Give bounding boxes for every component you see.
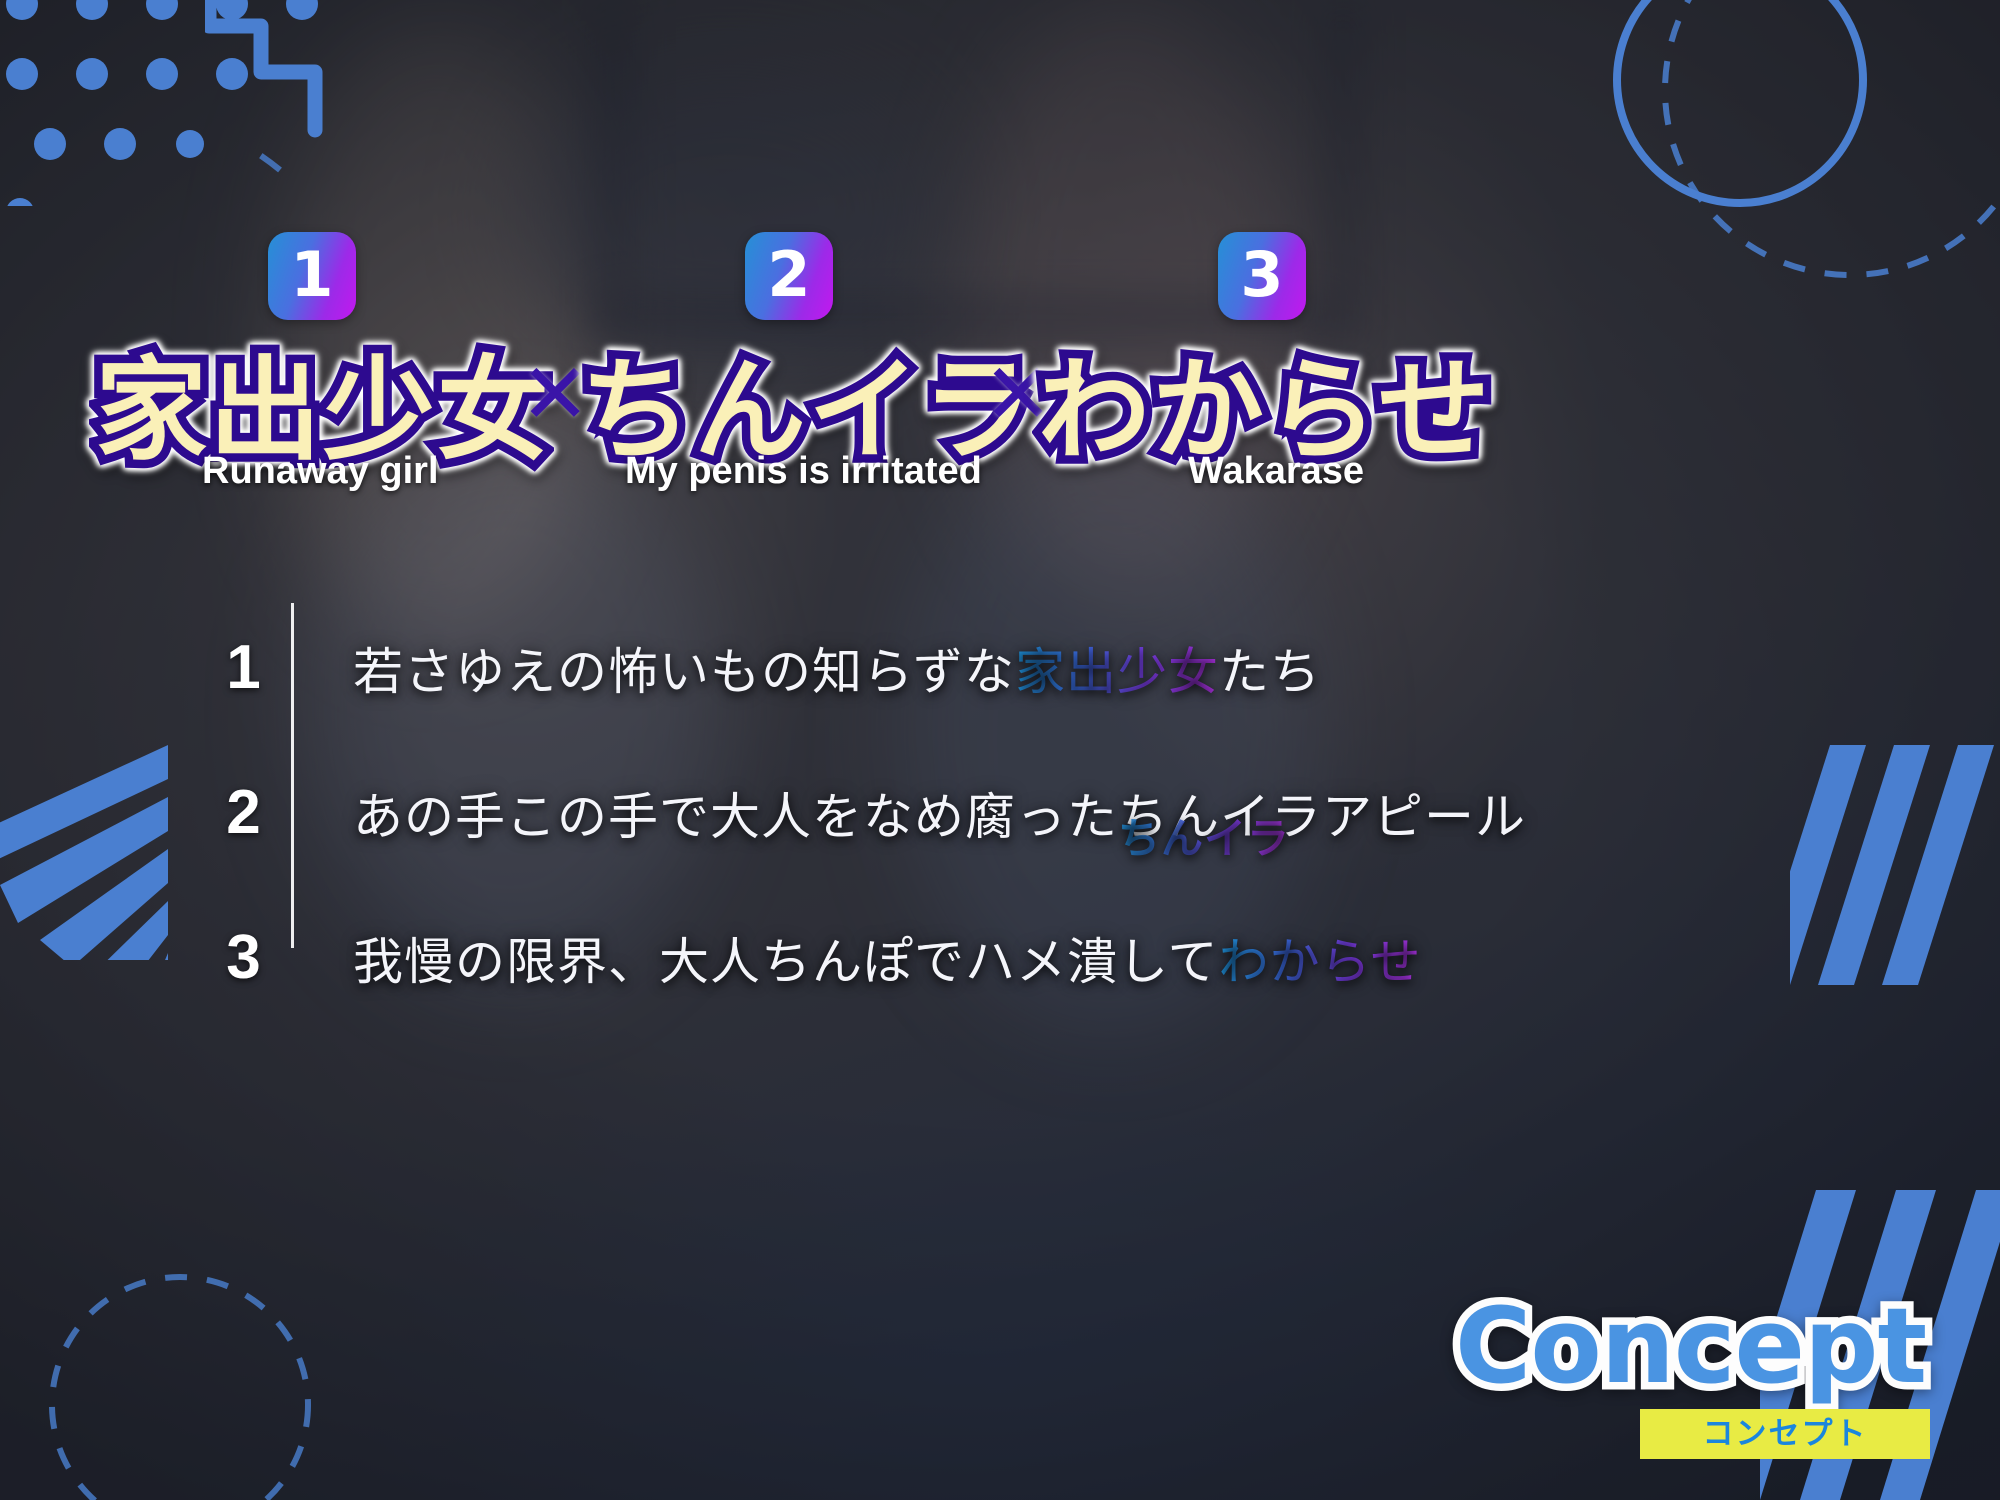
list-item-number: 2 <box>196 777 291 848</box>
list-item-text: あの手この手で大人をなめ腐ったちんイラちんイラアピール <box>291 777 1526 849</box>
list-item-ghost-wrap: ちんイラちんイラアピール <box>1118 777 1526 849</box>
headline-romanization-3: Wakarase <box>1188 450 1364 493</box>
logo-subtitle-bar: コンセプト <box>1640 1409 1930 1459</box>
list-item-highlight: 家出少女 <box>1015 643 1219 701</box>
list-item-text-plain: あの手この手で大人をなめ腐った <box>353 788 1118 846</box>
list-item-text-tail: ちんイラアピール <box>1118 788 1526 846</box>
list-item: 3 我慢の限界、大人ちんぽでハメ潰してわからせ <box>196 885 1876 1030</box>
step-badge-2: 2 <box>745 232 833 320</box>
headline-block: 1 2 3 家出少女 ✕ ちんイラ ✕ わからせ Runaway girl My… <box>0 232 2000 552</box>
list-item-text-tail: たち <box>1219 643 1321 701</box>
step-badge-1: 1 <box>268 232 356 320</box>
list-item-text-plain: 我慢の限界、大人ちんぽでハメ潰して <box>353 933 1219 991</box>
step-badge-3: 3 <box>1218 232 1306 320</box>
list-item-number: 1 <box>196 632 291 703</box>
concept-logo: Concept コンセプト <box>1455 1285 1955 1475</box>
concept-list: 1 若さゆえの怖いもの知らずな家出少女たち 2 あの手この手で大人をなめ腐ったち… <box>196 595 1876 1030</box>
list-item-number: 3 <box>196 922 291 993</box>
list-item-text-plain: 若さゆえの怖いもの知らずな <box>353 643 1015 701</box>
list-item-text: 若さゆえの怖いもの知らずな家出少女たち <box>291 632 1321 704</box>
headline-romanization-1: Runaway girl <box>202 450 439 493</box>
list-item: 2 あの手この手で大人をなめ腐ったちんイラちんイラアピール <box>196 740 1876 885</box>
list-item: 1 若さゆえの怖いもの知らずな家出少女たち <box>196 595 1876 740</box>
concept-slide: 1 2 3 家出少女 ✕ ちんイラ ✕ わからせ Runaway girl My… <box>0 0 2000 1500</box>
logo-wordmark: Concept <box>1455 1285 1926 1407</box>
logo-subtitle-text: コンセプト <box>1640 1409 1930 1459</box>
list-item-highlight: わからせ <box>1219 933 1422 991</box>
headline-words: 家出少女 ✕ ちんイラ ✕ わからせ <box>0 320 2000 470</box>
headline-romanization-2: My penis is irritated <box>625 450 982 493</box>
list-item-text: 我慢の限界、大人ちんぽでハメ潰してわからせ <box>291 922 1422 994</box>
